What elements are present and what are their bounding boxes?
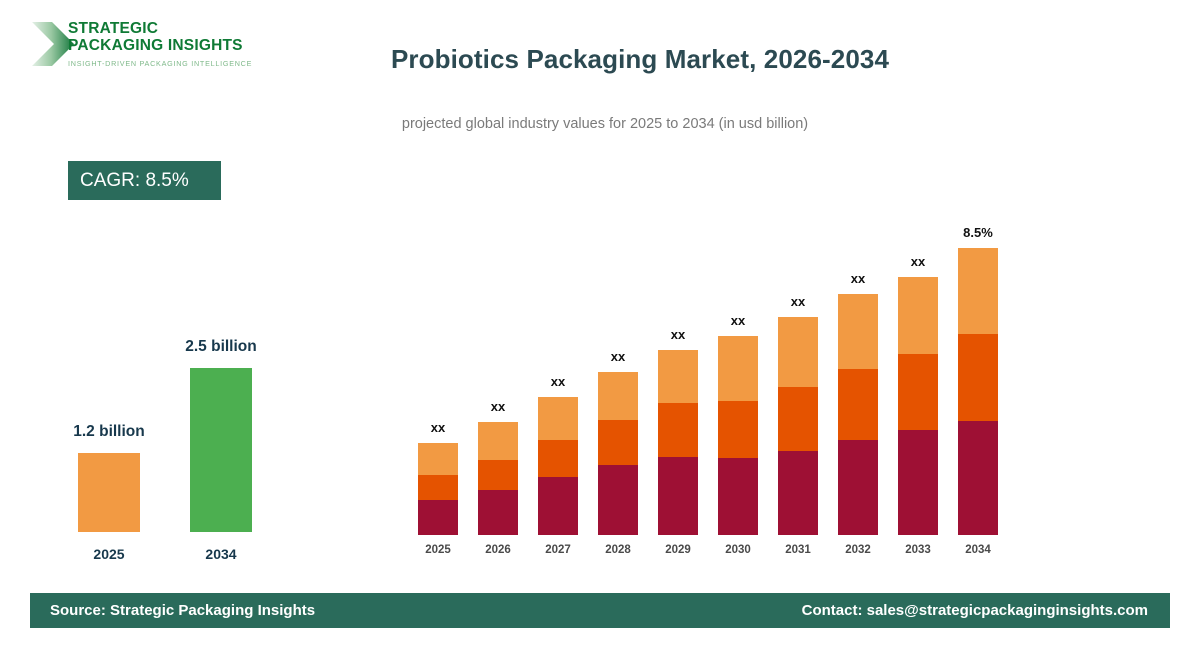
stacked-bar-segment-bottom [778, 451, 818, 535]
comparison-bar [190, 368, 252, 532]
stacked-bar-segment-middle [838, 369, 878, 440]
stacked-bar [538, 397, 578, 535]
stacked-bar-column: xx2033 [898, 200, 938, 560]
logo-name-line1: STRATEGIC [68, 20, 252, 37]
stacked-bar-segment-bottom [658, 457, 698, 535]
footer-bar: Source: Strategic Packaging Insights Con… [30, 593, 1170, 628]
stacked-bar [958, 248, 998, 535]
stacked-bar-segment-bottom [718, 458, 758, 535]
infographic-canvas: STRATEGIC PACKAGING INSIGHTS INSIGHT-DRI… [0, 0, 1200, 650]
stacked-bar-segment-bottom [538, 477, 578, 535]
stacked-bar-value-label: xx [648, 327, 708, 342]
stacked-bar-segment-top [778, 317, 818, 387]
stacked-bar-segment-middle [658, 403, 698, 457]
stacked-bar-column: xx2026 [478, 200, 518, 560]
stacked-bar-value-label: xx [828, 271, 888, 286]
stacked-bar [778, 317, 818, 535]
stacked-bar-segment-middle [598, 420, 638, 465]
stacked-bar-segment-top [418, 443, 458, 475]
stacked-bar-value-label: xx [528, 374, 588, 389]
stacked-bar-category-label: 2028 [588, 544, 648, 556]
stacked-bar-segment-top [718, 336, 758, 401]
stacked-bar-category-label: 2025 [408, 544, 468, 556]
stacked-bar [718, 336, 758, 535]
stacked-bar [898, 277, 938, 535]
stacked-bar [658, 350, 698, 535]
stacked-bar-segment-bottom [418, 500, 458, 535]
stacked-bar-segment-top [478, 422, 518, 460]
stacked-bar-segment-middle [958, 334, 998, 421]
stacked-bar-category-label: 2033 [888, 544, 948, 556]
stacked-bar-column: xx2028 [598, 200, 638, 560]
stacked-bar-column: xx2029 [658, 200, 698, 560]
stacked-bar-value-label: 8.5% [948, 225, 1008, 240]
stacked-bar-segment-bottom [898, 430, 938, 535]
stacked-bar-column: xx2027 [538, 200, 578, 560]
stacked-bar-value-label: xx [408, 420, 468, 435]
stacked-bar-category-label: 2026 [468, 544, 528, 556]
footer-contact: Contact: sales@strategicpackaginginsight… [802, 593, 1148, 628]
stacked-bar-segment-middle [538, 440, 578, 477]
footer-source: Source: Strategic Packaging Insights [50, 593, 315, 628]
stacked-bar-column: xx2025 [418, 200, 458, 560]
stacked-bar [418, 443, 458, 535]
stacked-bar [598, 372, 638, 535]
stacked-bar-segment-top [958, 248, 998, 334]
stacked-bar-segment-middle [778, 387, 818, 451]
comparison-bar-value-label: 1.2 billion [34, 423, 184, 441]
stacked-bar-segment-bottom [958, 421, 998, 535]
stacked-bar-segment-top [598, 372, 638, 420]
stacked-bar-value-label: xx [768, 294, 828, 309]
stacked-bar-column: xx2032 [838, 200, 878, 560]
stacked-bar-value-label: xx [888, 254, 948, 269]
stacked-bar-segment-middle [418, 475, 458, 500]
stacked-bar-value-label: xx [468, 399, 528, 414]
comparison-bar-value-label: 2.5 billion [146, 338, 296, 356]
stacked-bar-column: xx2031 [778, 200, 818, 560]
stacked-bar-segment-top [838, 294, 878, 369]
stacked-bar-segment-top [538, 397, 578, 440]
stacked-bar-segment-top [658, 350, 698, 403]
stacked-bar-column: 8.5%2034 [958, 200, 998, 560]
endpoint-comparison-chart: 1.2 billion20252.5 billion2034 [50, 300, 280, 570]
stacked-bar-segment-middle [898, 354, 938, 430]
stacked-bar-value-label: xx [708, 313, 768, 328]
comparison-bar-category-label: 2034 [166, 546, 276, 562]
page-title: Probiotics Packaging Market, 2026-2034 [0, 44, 1200, 75]
stacked-bar-category-label: 2029 [648, 544, 708, 556]
stacked-bar-segment-bottom [838, 440, 878, 535]
stacked-bar-segment-middle [478, 460, 518, 490]
stacked-bar-segment-bottom [598, 465, 638, 535]
stacked-bar-category-label: 2027 [528, 544, 588, 556]
stacked-bar-column: xx2030 [718, 200, 758, 560]
stacked-bar [838, 294, 878, 535]
comparison-bar [78, 453, 140, 532]
stacked-bar-category-label: 2030 [708, 544, 768, 556]
stacked-bar-segment-top [898, 277, 938, 354]
stacked-bar [478, 422, 518, 535]
stacked-bar-category-label: 2031 [768, 544, 828, 556]
stacked-bar-segment-middle [718, 401, 758, 458]
page-subtitle: projected global industry values for 202… [0, 116, 1200, 132]
stacked-bar-category-label: 2034 [948, 544, 1008, 556]
stacked-bar-segment-bottom [478, 490, 518, 535]
stacked-bar-category-label: 2032 [828, 544, 888, 556]
cagr-badge: CAGR: 8.5% [68, 161, 221, 200]
stacked-bar-value-label: xx [588, 349, 648, 364]
yearly-stacked-forecast-chart: xx2025xx2026xx2027xx2028xx2029xx2030xx20… [400, 200, 1020, 560]
comparison-bar-category-label: 2025 [54, 546, 164, 562]
